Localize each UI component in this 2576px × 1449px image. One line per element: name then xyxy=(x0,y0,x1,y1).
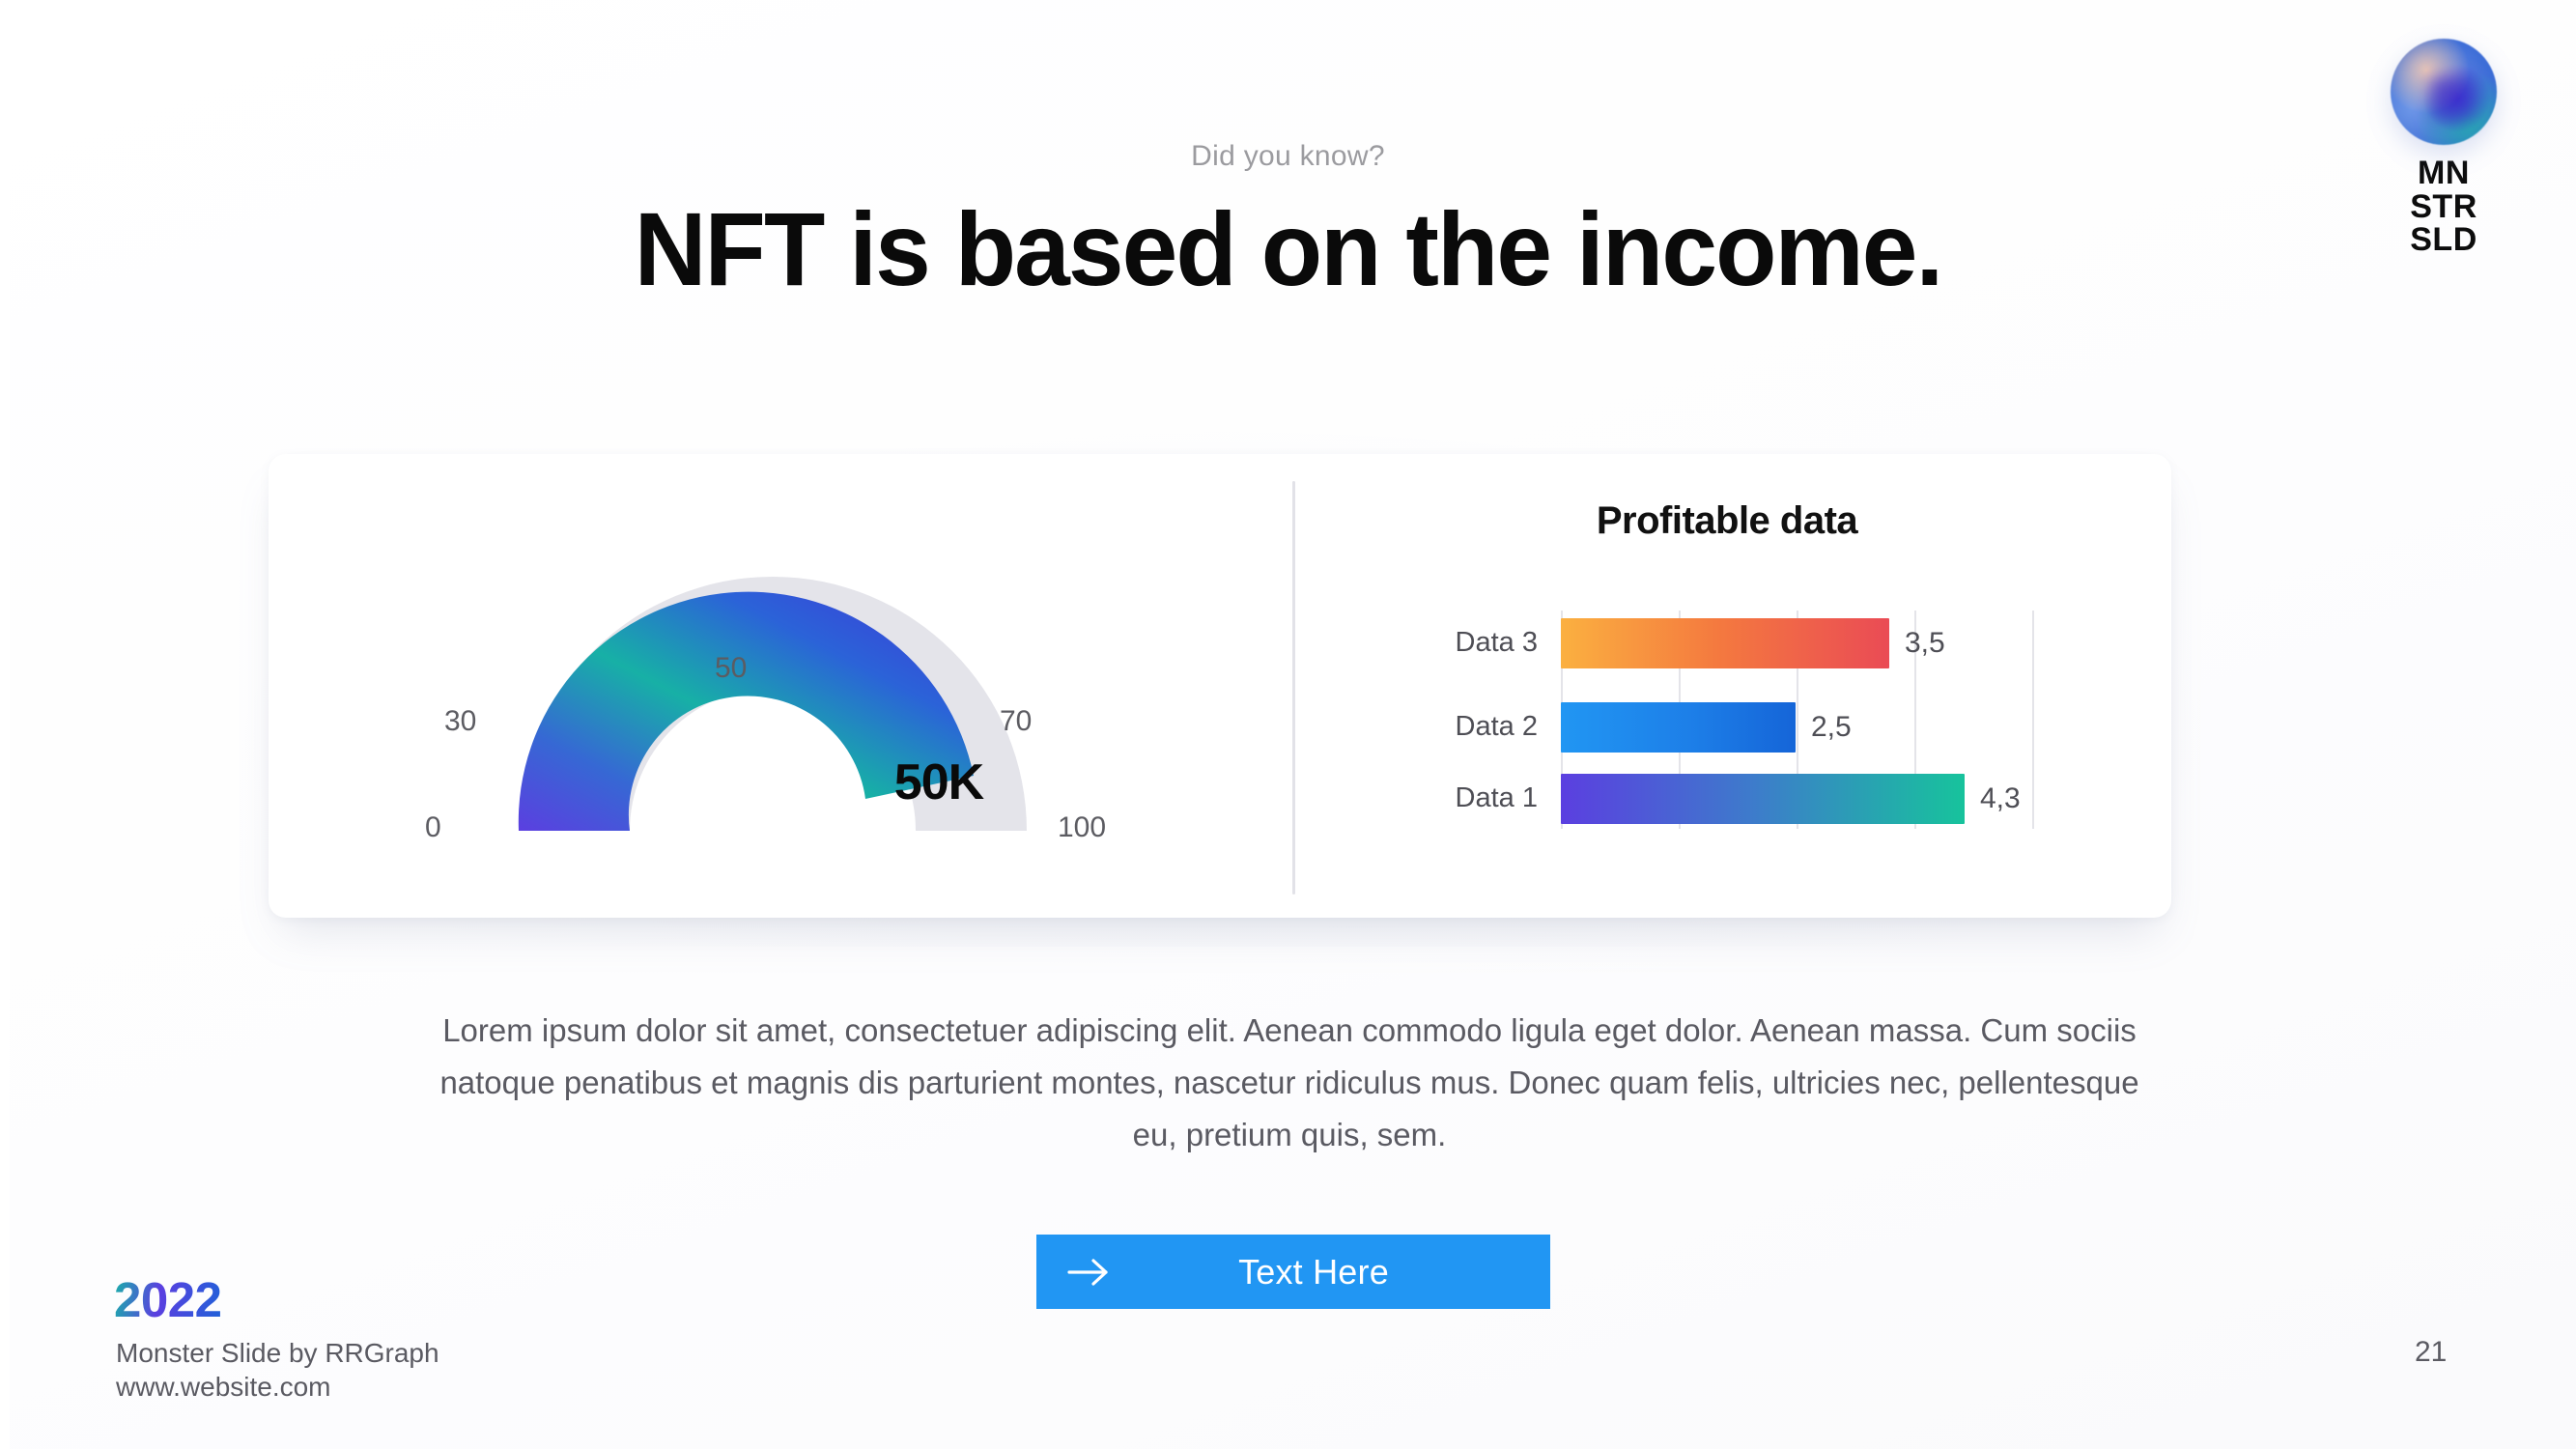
cta-label: Text Here xyxy=(1116,1252,1550,1293)
card-divider xyxy=(1292,481,1295,895)
bar-chart: Profitable data Data 3 3,5 Data 2 2,5 Da… xyxy=(1333,473,2183,889)
gauge-center-label: 50K xyxy=(894,753,983,811)
bar-value-label: 2,5 xyxy=(1811,711,1852,744)
gauge-tick-50: 50 xyxy=(715,652,747,685)
bar-fill xyxy=(1561,774,1965,824)
bar-row: Data 3 3,5 xyxy=(1561,618,2034,668)
bar-row: Data 1 4,3 xyxy=(1561,774,2034,824)
gauge-tick-30: 30 xyxy=(444,705,476,738)
bar-category-label: Data 3 xyxy=(1456,627,1538,659)
bar-chart-plot: Data 3 3,5 Data 2 2,5 Data 1 4,3 xyxy=(1561,611,2034,829)
footer-credit: Monster Slide by RRGraph xyxy=(116,1338,439,1369)
gradient-sphere-icon xyxy=(2391,39,2497,145)
bar-chart-title: Profitable data xyxy=(1302,499,2152,543)
footer-year: 2022 xyxy=(114,1271,221,1328)
bar-value-label: 3,5 xyxy=(1905,627,1945,660)
slide-left-edge xyxy=(0,0,10,1449)
gauge-center-value: 50K xyxy=(290,753,1256,811)
page-title: NFT is based on the income. xyxy=(51,188,2524,309)
footer-website[interactable]: www.website.com xyxy=(116,1372,331,1403)
body-paragraph: Lorem ipsum dolor sit amet, consectetuer… xyxy=(425,1005,2154,1160)
gauge-chart: 50K 0 30 50 70 100 xyxy=(290,473,1256,889)
gauge-svg xyxy=(483,565,1062,855)
bar-category-label: Data 2 xyxy=(1456,711,1538,743)
arrow-right-icon xyxy=(1062,1245,1116,1299)
gauge-tick-70: 70 xyxy=(1000,705,1032,738)
gauge-tick-100: 100 xyxy=(1058,811,1106,844)
page-number: 21 xyxy=(2415,1336,2447,1369)
bar-fill xyxy=(1561,618,1889,668)
bar-fill xyxy=(1561,702,1796,753)
bar-category-label: Data 1 xyxy=(1456,782,1538,814)
slide-canvas: MN STR SLD Did you know? NFT is based on… xyxy=(0,0,2576,1449)
bar-row: Data 2 2,5 xyxy=(1561,702,2034,753)
eyebrow-text: Did you know? xyxy=(0,140,2576,173)
gauge-tick-0: 0 xyxy=(425,811,441,844)
cta-button[interactable]: Text Here xyxy=(1036,1235,1550,1309)
bar-value-label: 4,3 xyxy=(1980,782,2021,815)
